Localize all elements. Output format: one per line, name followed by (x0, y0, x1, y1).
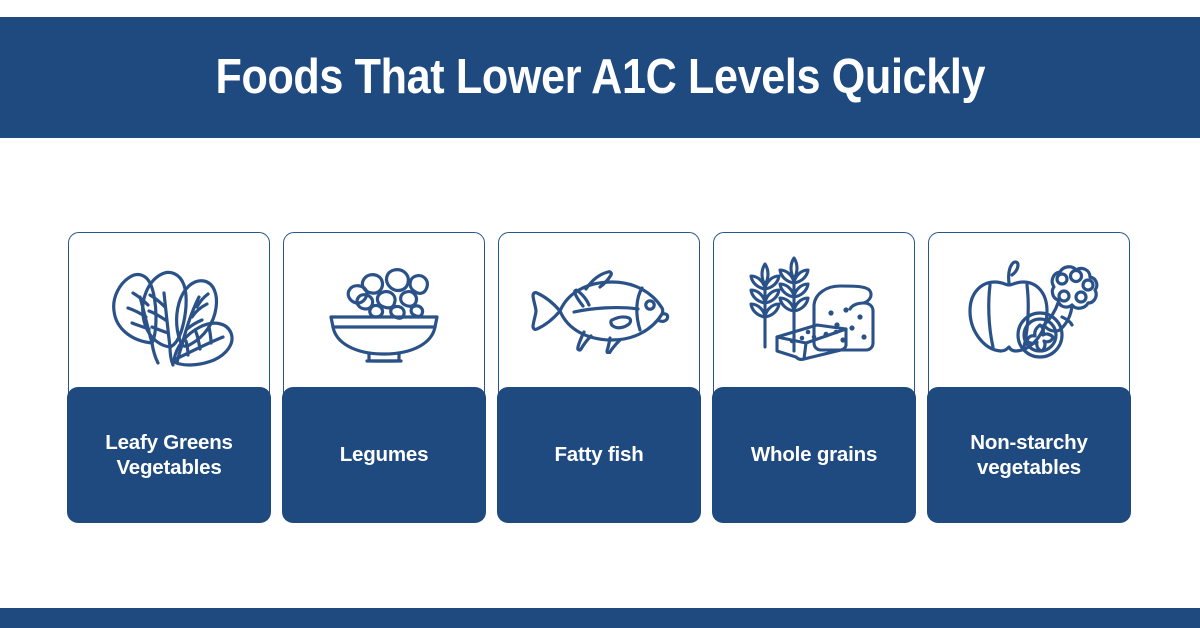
card-label-panel: Fatty fish (497, 387, 701, 523)
card-label-panel: Non-starchy vegetables (927, 387, 1131, 523)
card-icon-area (499, 233, 699, 389)
card-icon-area (69, 233, 269, 389)
leafy-greens-icon (96, 255, 242, 367)
card-label: Whole grains (751, 442, 877, 467)
legumes-bowl-icon (322, 257, 446, 365)
whole-grains-bread-icon (742, 255, 886, 367)
header-bar: Foods That Lower A1C Levels Quickly (0, 17, 1200, 138)
food-card-fatty-fish[interactable]: Fatty fish (498, 232, 700, 522)
card-icon-area (929, 233, 1129, 389)
card-label: Non-starchy vegetables (937, 430, 1121, 481)
card-label-panel: Leafy Greens Vegetables (67, 387, 271, 523)
food-card-whole-grains[interactable]: Whole grains (713, 232, 915, 522)
food-card-non-starchy-vegetables[interactable]: Non-starchy vegetables (928, 232, 1130, 522)
card-label: Legumes (340, 442, 429, 467)
page-title: Foods That Lower A1C Levels Quickly (215, 53, 985, 102)
food-card-legumes[interactable]: Legumes (283, 232, 485, 522)
card-label: Leafy Greens Vegetables (77, 430, 261, 481)
card-label-panel: Whole grains (712, 387, 916, 523)
card-icon-area (284, 233, 484, 389)
fatty-fish-icon (526, 268, 672, 354)
footer-bar (0, 608, 1200, 628)
infographic-poster: Foods That Lower A1C Levels Quickly (0, 0, 1200, 628)
food-cards-row: Leafy Greens Vegetables (68, 232, 1200, 522)
card-icon-area (714, 233, 914, 389)
card-label: Fatty fish (554, 442, 643, 467)
non-starchy-vegetables-icon (954, 255, 1104, 367)
card-label-panel: Legumes (282, 387, 486, 523)
food-card-leafy-greens[interactable]: Leafy Greens Vegetables (68, 232, 270, 522)
